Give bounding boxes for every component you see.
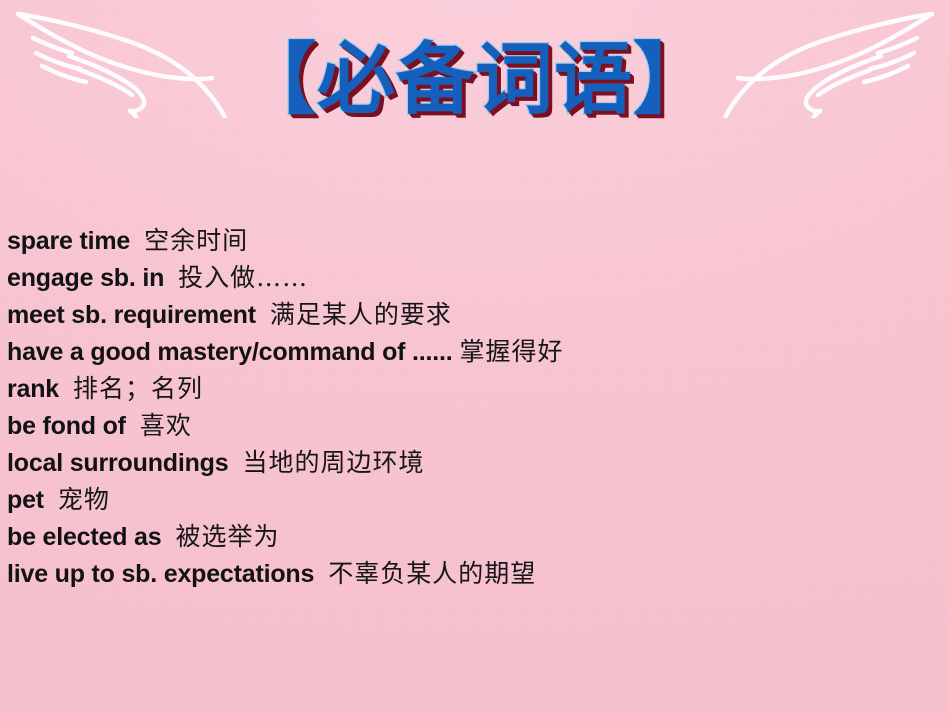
vocab-line: pet宠物 [7, 481, 940, 518]
vocab-meaning-zh: 宠物 [58, 485, 110, 514]
vocab-term-en: be fond of [7, 412, 126, 440]
slide-title-container: 【必备词语】 [0, 38, 950, 122]
vocab-line: meet sb. requirement满足某人的要求 [7, 296, 940, 333]
vocab-meaning-zh: 喜欢 [140, 411, 192, 440]
vocab-term-en: have a good mastery/command of ...... [7, 338, 453, 366]
vocab-line: be fond of喜欢 [7, 407, 940, 444]
vocab-meaning-zh: 空余时间 [144, 226, 248, 255]
vocab-term-en: spare time [7, 227, 130, 255]
vocab-line: live up to sb. expectations不辜负某人的期望 [7, 555, 940, 592]
vocab-line: be elected as被选举为 [7, 518, 940, 555]
vocab-line: rank排名；名列 [7, 370, 940, 407]
vocab-term-en: be elected as [7, 523, 161, 551]
vocab-line: have a good mastery/command of ......掌握得… [7, 333, 940, 370]
vocab-term-en: engage sb. in [7, 264, 164, 292]
vocab-term-en: pet [7, 486, 44, 514]
vocab-meaning-zh: 掌握得好 [460, 337, 564, 366]
slide-canvas: 【必备词语】 spare time空余时间engage sb. in投入做……m… [0, 0, 950, 713]
vocab-meaning-zh: 排名；名列 [73, 374, 203, 403]
vocab-meaning-zh: 不辜负某人的期望 [328, 559, 536, 588]
vocab-term-en: live up to sb. expectations [7, 560, 314, 588]
vocab-term-en: local surroundings [7, 449, 228, 477]
vocab-meaning-zh: 满足某人的要求 [270, 300, 452, 329]
vocab-meaning-zh: 被选举为 [175, 522, 279, 551]
page-title: 【必备词语】 [238, 38, 712, 122]
vocab-line: local surroundings当地的周边环境 [7, 444, 940, 481]
vocab-line: spare time空余时间 [7, 222, 940, 259]
vocab-meaning-zh: 投入做…… [178, 263, 308, 292]
vocab-line: engage sb. in投入做…… [7, 259, 940, 296]
vocabulary-list: spare time空余时间engage sb. in投入做……meet sb.… [7, 222, 940, 592]
vocab-term-en: rank [7, 375, 59, 403]
vocab-meaning-zh: 当地的周边环境 [242, 448, 424, 477]
vocab-term-en: meet sb. requirement [7, 301, 256, 329]
